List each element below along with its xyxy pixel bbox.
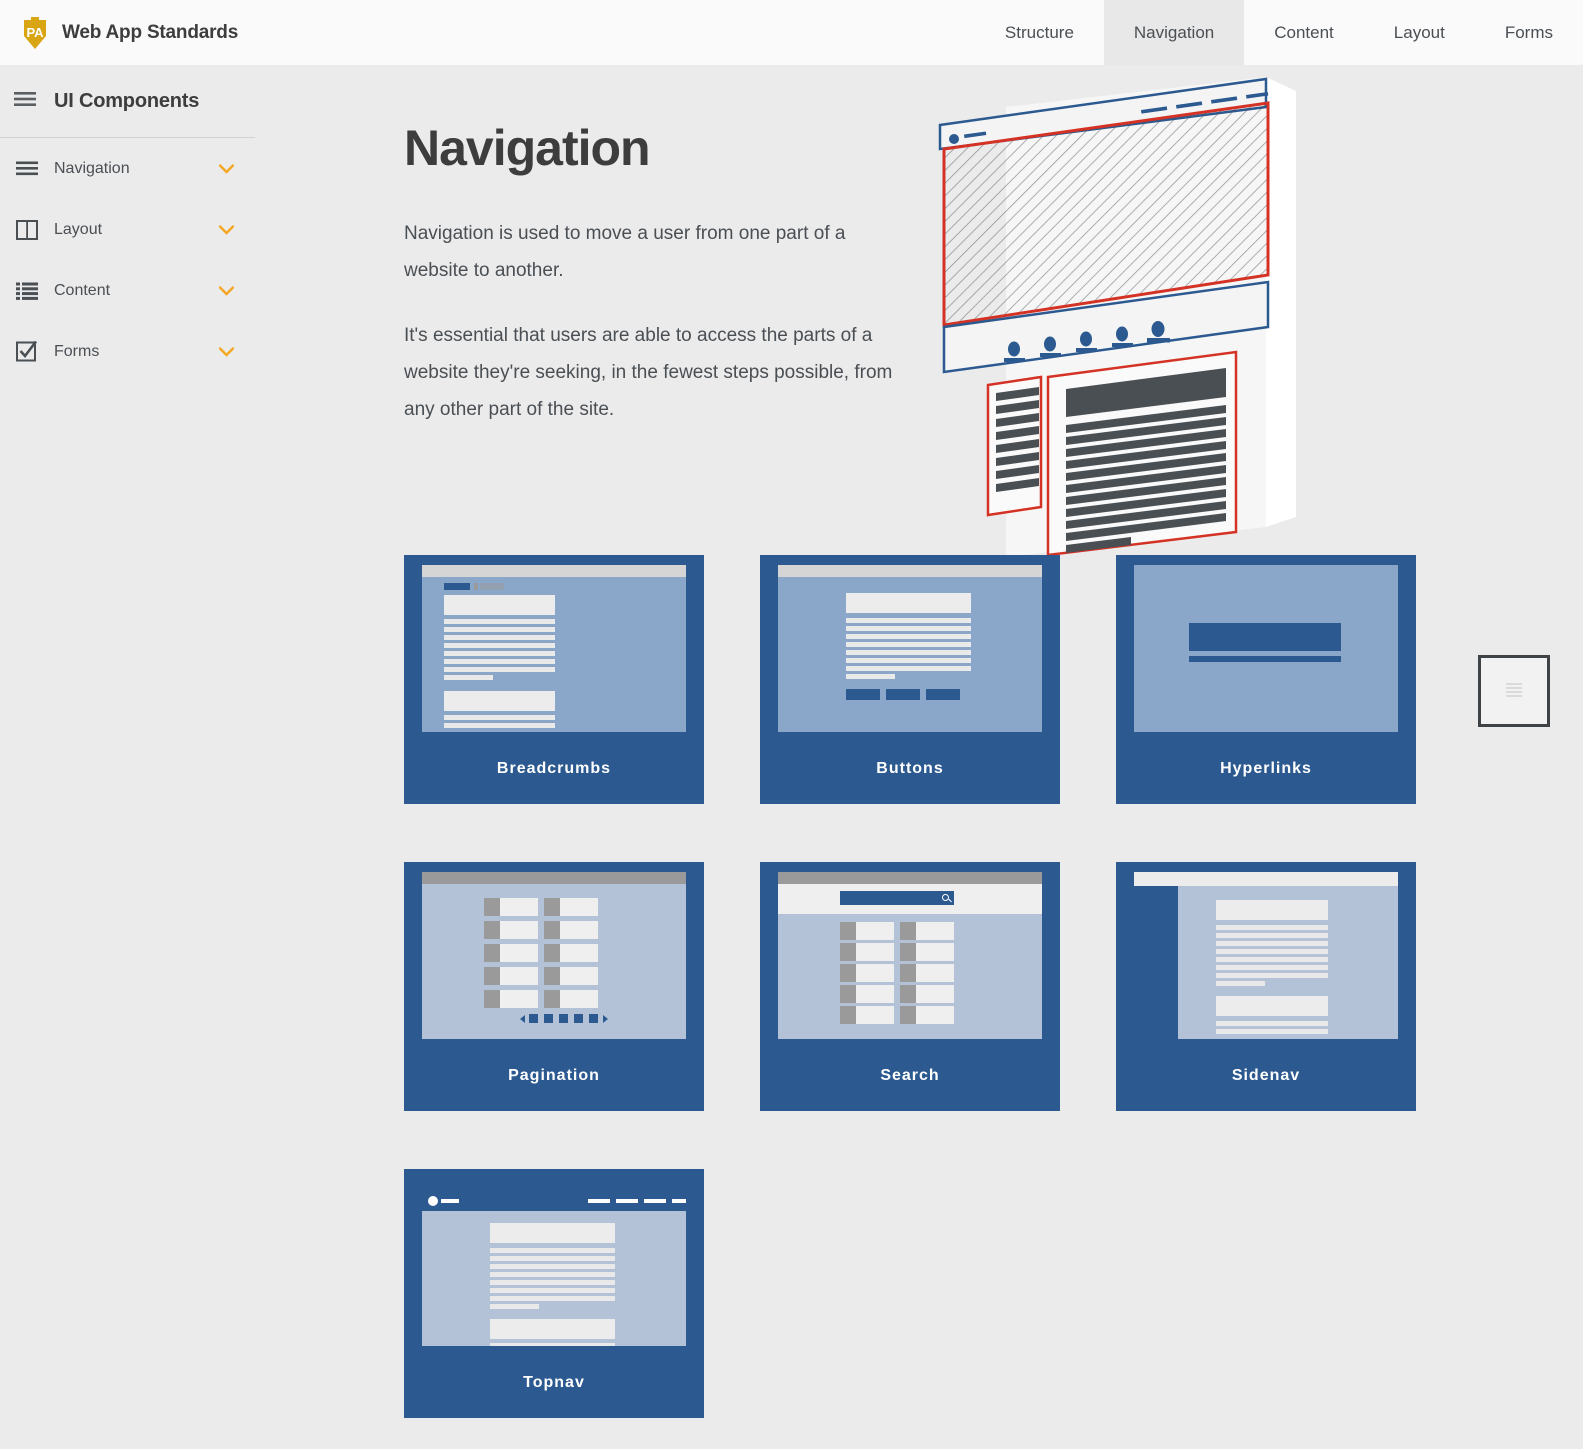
sidebar-item-navigation[interactable]: Navigation bbox=[0, 138, 256, 199]
tab-layout[interactable]: Layout bbox=[1364, 0, 1475, 65]
tab-label: Navigation bbox=[1134, 23, 1214, 43]
brand-title: Web App Standards bbox=[62, 22, 238, 44]
intro-paragraph-1: Navigation is used to move a user from o… bbox=[404, 215, 896, 289]
sidebar-item-label: Layout bbox=[54, 221, 219, 239]
thumbnail-search bbox=[778, 872, 1042, 1039]
thumbnail-topnav bbox=[422, 1179, 686, 1346]
sidebar-item-label: Content bbox=[54, 282, 219, 300]
card-buttons[interactable]: Buttons bbox=[760, 555, 1060, 804]
card-label: Sidenav bbox=[1116, 1067, 1416, 1085]
tab-label: Structure bbox=[1005, 23, 1074, 43]
card-label: Hyperlinks bbox=[1116, 760, 1416, 778]
top-navigation: Structure Navigation Content Layout Form… bbox=[975, 0, 1583, 65]
lines-icon bbox=[1506, 683, 1522, 699]
tab-navigation[interactable]: Navigation bbox=[1104, 0, 1244, 65]
app-header: PA Web App Standards Structure Navigatio… bbox=[0, 0, 1583, 65]
sidebar-item-label: Navigation bbox=[54, 160, 219, 178]
sidebar-item-content[interactable]: Content bbox=[0, 260, 256, 321]
keystone-icon: PA bbox=[18, 16, 52, 50]
card-label: Pagination bbox=[404, 1067, 704, 1085]
card-sidenav[interactable]: Sidenav bbox=[1116, 862, 1416, 1111]
chevron-down-icon[interactable] bbox=[219, 225, 234, 235]
chevron-down-icon[interactable] bbox=[219, 286, 234, 296]
thumbnail-breadcrumbs bbox=[422, 565, 686, 732]
card-breadcrumbs[interactable]: Breadcrumbs bbox=[404, 555, 704, 804]
thumbnail-buttons bbox=[778, 565, 1042, 732]
card-search[interactable]: Search bbox=[760, 862, 1060, 1111]
page-title: Navigation bbox=[404, 119, 650, 177]
chevron-down-icon[interactable] bbox=[219, 164, 234, 174]
thumbnail-sidenav bbox=[1134, 872, 1398, 1039]
tab-label: Content bbox=[1274, 23, 1334, 43]
columns-icon bbox=[16, 220, 38, 240]
thumbnail-pagination bbox=[422, 872, 686, 1039]
sidebar-title: UI Components bbox=[54, 90, 199, 113]
tab-label: Layout bbox=[1394, 23, 1445, 43]
sidebar-header[interactable]: UI Components bbox=[0, 65, 256, 137]
list-icon bbox=[16, 282, 38, 300]
checkbox-icon bbox=[16, 341, 38, 362]
card-topnav[interactable]: Topnav bbox=[404, 1169, 704, 1418]
hamburger-icon bbox=[14, 91, 36, 112]
card-label: Buttons bbox=[760, 760, 1060, 778]
sidebar: UI Components Navigation Layout bbox=[0, 65, 256, 1449]
tab-forms[interactable]: Forms bbox=[1475, 0, 1583, 65]
tab-label: Forms bbox=[1505, 23, 1553, 43]
thumbnail-hyperlinks bbox=[1134, 565, 1398, 732]
intro-paragraph-2: It's essential that users are able to ac… bbox=[404, 317, 896, 428]
svg-text:PA: PA bbox=[26, 25, 44, 40]
card-label: Breadcrumbs bbox=[404, 760, 704, 778]
tab-structure[interactable]: Structure bbox=[975, 0, 1104, 65]
main-content: Navigation Navigation is used to move a … bbox=[256, 65, 1583, 1449]
intro-text: Navigation is used to move a user from o… bbox=[404, 215, 896, 428]
card-hyperlinks[interactable]: Hyperlinks bbox=[1116, 555, 1416, 804]
brand[interactable]: PA Web App Standards bbox=[0, 0, 975, 65]
hamburger-icon bbox=[16, 161, 38, 176]
floating-panel-toggle[interactable] bbox=[1478, 655, 1550, 727]
card-pagination[interactable]: Pagination bbox=[404, 862, 704, 1111]
sidebar-item-label: Forms bbox=[54, 343, 219, 361]
card-label: Search bbox=[760, 1067, 1060, 1085]
chevron-down-icon[interactable] bbox=[219, 347, 234, 357]
sidebar-item-layout[interactable]: Layout bbox=[0, 199, 256, 260]
card-label: Topnav bbox=[404, 1374, 704, 1392]
component-card-grid: Breadcrumbs Buttons bbox=[404, 555, 1424, 1418]
hero-illustration bbox=[936, 77, 1336, 557]
sidebar-item-forms[interactable]: Forms bbox=[0, 321, 256, 382]
tab-content[interactable]: Content bbox=[1244, 0, 1364, 65]
